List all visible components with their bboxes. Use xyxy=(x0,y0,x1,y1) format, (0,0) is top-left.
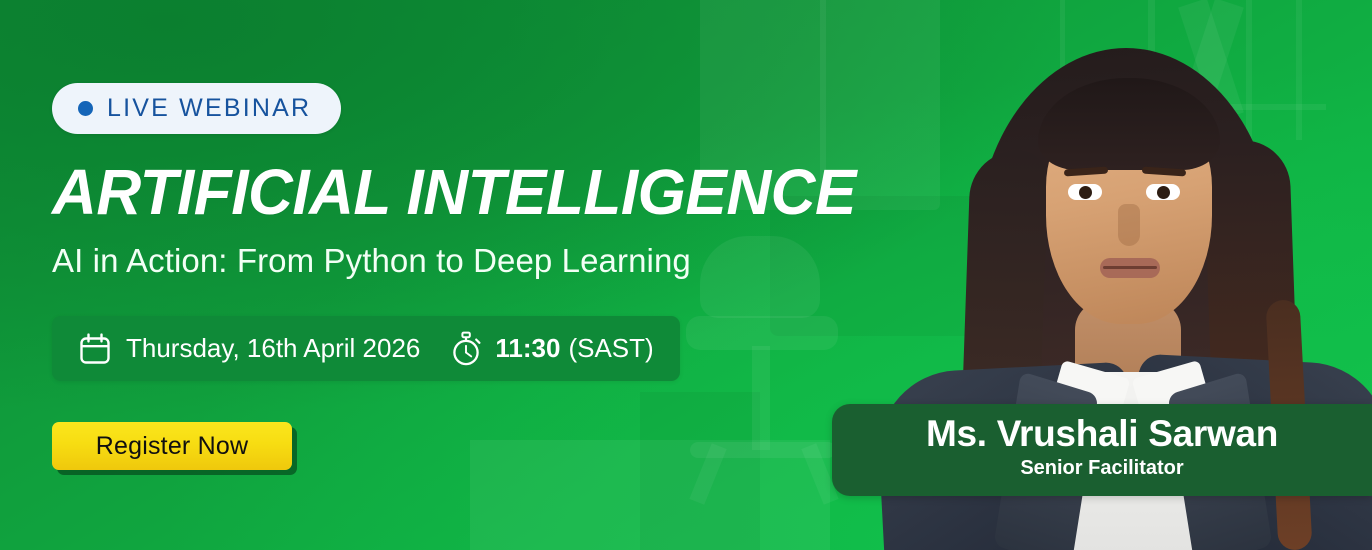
page-title-text: ARTIFICIAL INTELLIGENCE xyxy=(52,160,856,224)
webinar-date: Thursday, 16th April 2026 xyxy=(126,333,420,364)
speaker-role: Senior Facilitator xyxy=(1020,455,1183,481)
speaker-nameplate: Ms. Vrushali Sarwan Senior Facilitator xyxy=(832,404,1372,496)
date-group: Thursday, 16th April 2026 xyxy=(78,332,420,366)
time-group: 11:30 (SAST) xyxy=(450,331,653,367)
page-subtitle: AI in Action: From Python to Deep Learni… xyxy=(52,243,691,279)
register-now-button[interactable]: Register Now xyxy=(52,422,292,470)
live-webinar-label: LIVE WEBINAR xyxy=(107,96,311,121)
banner-content: LIVE WEBINAR ARTIFICIAL INTELLIGENCE AI … xyxy=(52,0,932,550)
live-dot-icon xyxy=(78,101,93,116)
webinar-timezone: (SAST) xyxy=(568,333,653,364)
webinar-time: 11:30 xyxy=(495,333,560,364)
schedule-bar: Thursday, 16th April 2026 11:30 (SAST) xyxy=(52,316,680,381)
page-title: ARTIFICIAL INTELLIGENCE xyxy=(46,160,862,224)
webinar-banner: LIVE WEBINAR ARTIFICIAL INTELLIGENCE AI … xyxy=(0,0,1372,550)
live-webinar-badge: LIVE WEBINAR xyxy=(52,83,341,134)
speaker-name: Ms. Vrushali Sarwan xyxy=(926,415,1278,454)
calendar-icon xyxy=(78,332,112,366)
stopwatch-icon xyxy=(450,331,484,367)
